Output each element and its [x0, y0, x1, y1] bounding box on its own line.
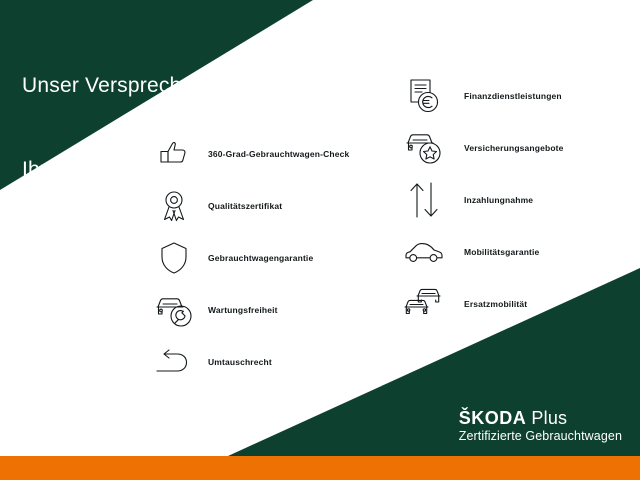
feature-label: Ersatzmobilität	[464, 299, 527, 309]
return-arrow-icon	[146, 339, 202, 385]
brand-suffix: Plus	[526, 408, 567, 428]
feature-item-replacement-mobility: Ersatzmobilität	[396, 278, 564, 330]
two-cars-icon	[396, 281, 452, 327]
feature-label: Qualitätszertifikat	[208, 201, 282, 211]
award-rosette-icon	[146, 183, 202, 229]
orange-base-stripe	[0, 456, 640, 480]
feature-item-quality-certificate: Qualitätszertifikat	[146, 180, 349, 232]
feature-label: Mobilitätsgarantie	[464, 247, 539, 257]
car-wrench-icon	[146, 287, 202, 333]
car-star-icon	[396, 125, 452, 171]
feature-item-financial-services: Finanzdienstleistungen	[396, 70, 564, 122]
brand-name: ŠKODA	[459, 408, 527, 428]
up-down-arrows-icon	[396, 177, 452, 223]
feature-label: Versicherungsangebote	[464, 143, 564, 153]
feature-list-right: Finanzdienstleistungen Versicherungsange…	[396, 70, 564, 330]
feature-list-left: 360-Grad-Gebrauchtwagen-Check Qualitätsz…	[146, 128, 349, 388]
feature-label: 360-Grad-Gebrauchtwagen-Check	[208, 149, 349, 159]
brand-tagline: Zertifizierte Gebrauchtwagen	[459, 428, 622, 444]
feature-label: Inzahlungnahme	[464, 195, 533, 205]
feature-label: Gebrauchtwagengarantie	[208, 253, 313, 263]
feature-item-360-check: 360-Grad-Gebrauchtwagen-Check	[146, 128, 349, 180]
feature-item-insurance-offers: Versicherungsangebote	[396, 122, 564, 174]
slide-canvas: Unser Versprechen. Ihr Plus. 360-Grad-Ge…	[0, 0, 640, 480]
brand-logo-title: ŠKODA Plus	[459, 408, 622, 428]
car-side-icon	[396, 229, 452, 275]
feature-label: Umtauschrecht	[208, 357, 272, 367]
feature-label: Finanzdienstleistungen	[464, 91, 562, 101]
feature-item-trade-in: Inzahlungnahme	[396, 174, 564, 226]
feature-label: Wartungsfreiheit	[208, 305, 278, 315]
shield-icon	[146, 235, 202, 281]
brand-logo: ŠKODA Plus Zertifizierte Gebrauchtwagen	[459, 408, 622, 444]
page-title-line-1: Unser Versprechen.	[22, 72, 211, 100]
feature-item-maintenance-free: Wartungsfreiheit	[146, 284, 349, 336]
feature-item-return-right: Umtauschrecht	[146, 336, 349, 388]
feature-item-mobility-guarantee: Mobilitätsgarantie	[396, 226, 564, 278]
feature-item-used-car-warranty: Gebrauchtwagengarantie	[146, 232, 349, 284]
thumbs-up-icon	[146, 131, 202, 177]
document-euro-icon	[396, 73, 452, 119]
